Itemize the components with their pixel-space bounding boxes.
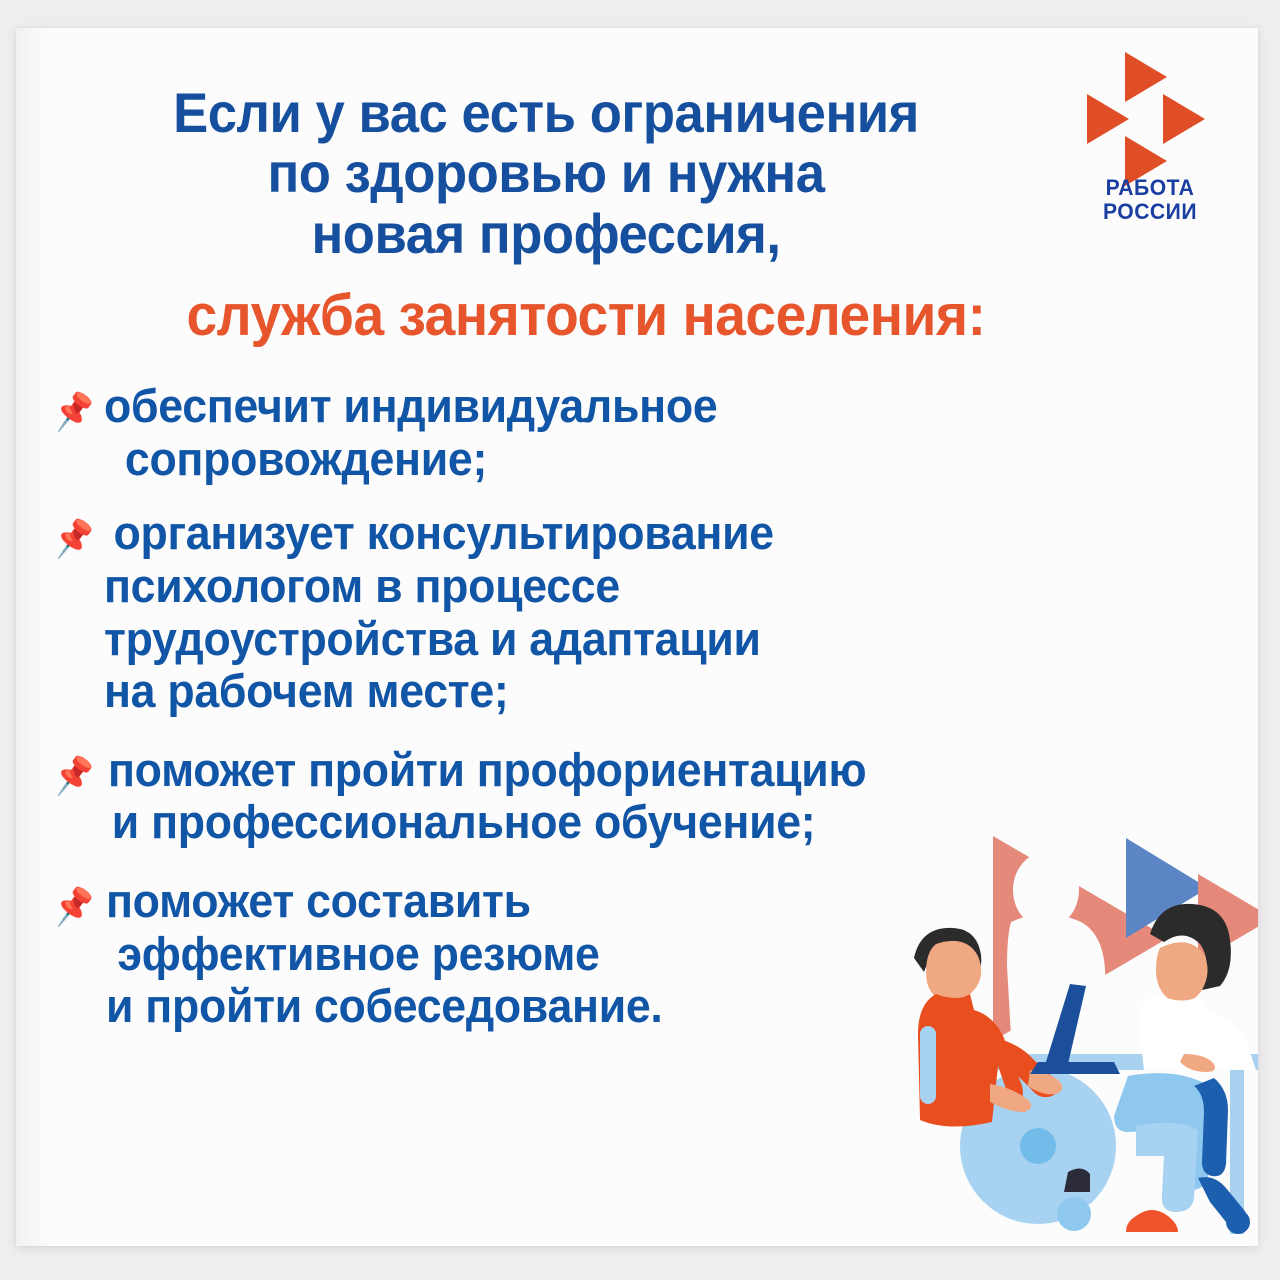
subheading: служба занятости населения: [45, 286, 1128, 347]
logo-rabota-rossii[interactable]: РАБОТА РОССИИ [1074, 50, 1226, 224]
list-item-line: психологом в процессе [104, 560, 1189, 613]
list-item: 📌 организует консультирование психологом… [46, 507, 1246, 718]
headline-line-1: Если у вас есть ограничения [48, 83, 1044, 143]
list-item-text: обеспечит индивидуальное сопровождение; [104, 380, 1189, 485]
triangle-right-icon [1163, 94, 1205, 144]
logo-triangles-icon [1087, 50, 1213, 168]
pushpin-icon: 📌 [49, 882, 99, 932]
illustration-consultation [878, 826, 1258, 1246]
list-item-line: обеспечит индивидуальное [104, 380, 1189, 433]
list-item-line: поможет пройти профориентацию [108, 744, 1189, 797]
pushpin-icon: 📌 [49, 751, 99, 801]
logo-text-line-1: РАБОТА [1077, 176, 1223, 200]
triangle-top-icon [1125, 52, 1167, 102]
logo-text: РАБОТА РОССИИ [1077, 176, 1223, 224]
list-item-line: организует консультирование [104, 507, 1189, 560]
pushpin-icon: 📌 [49, 514, 99, 564]
headline-line-2: по здоровью и нужна [48, 143, 1044, 203]
page-title: Если у вас есть ограничения по здоровью … [48, 83, 1044, 264]
pushpin-icon: 📌 [49, 387, 99, 437]
logo-text-line-2: РОССИИ [1077, 200, 1223, 224]
poster-card: Если у вас есть ограничения по здоровью … [16, 28, 1258, 1246]
list-item-text: организует консультирование психологом в… [104, 507, 1189, 718]
list-item: 📌 обеспечит индивидуальное сопровождение… [46, 380, 1246, 485]
white-silhouette-icon [1007, 852, 1107, 1040]
list-item-line: трудоустройства и адаптации [104, 613, 1189, 666]
list-item-line: на рабочем месте; [104, 665, 1189, 718]
headline-line-3: новая профессия, [48, 204, 1044, 264]
list-item-line: сопровождение; [104, 433, 1189, 486]
triangle-left-icon [1087, 94, 1129, 144]
poster-root: Если у вас есть ограничения по здоровью … [0, 0, 1280, 1280]
